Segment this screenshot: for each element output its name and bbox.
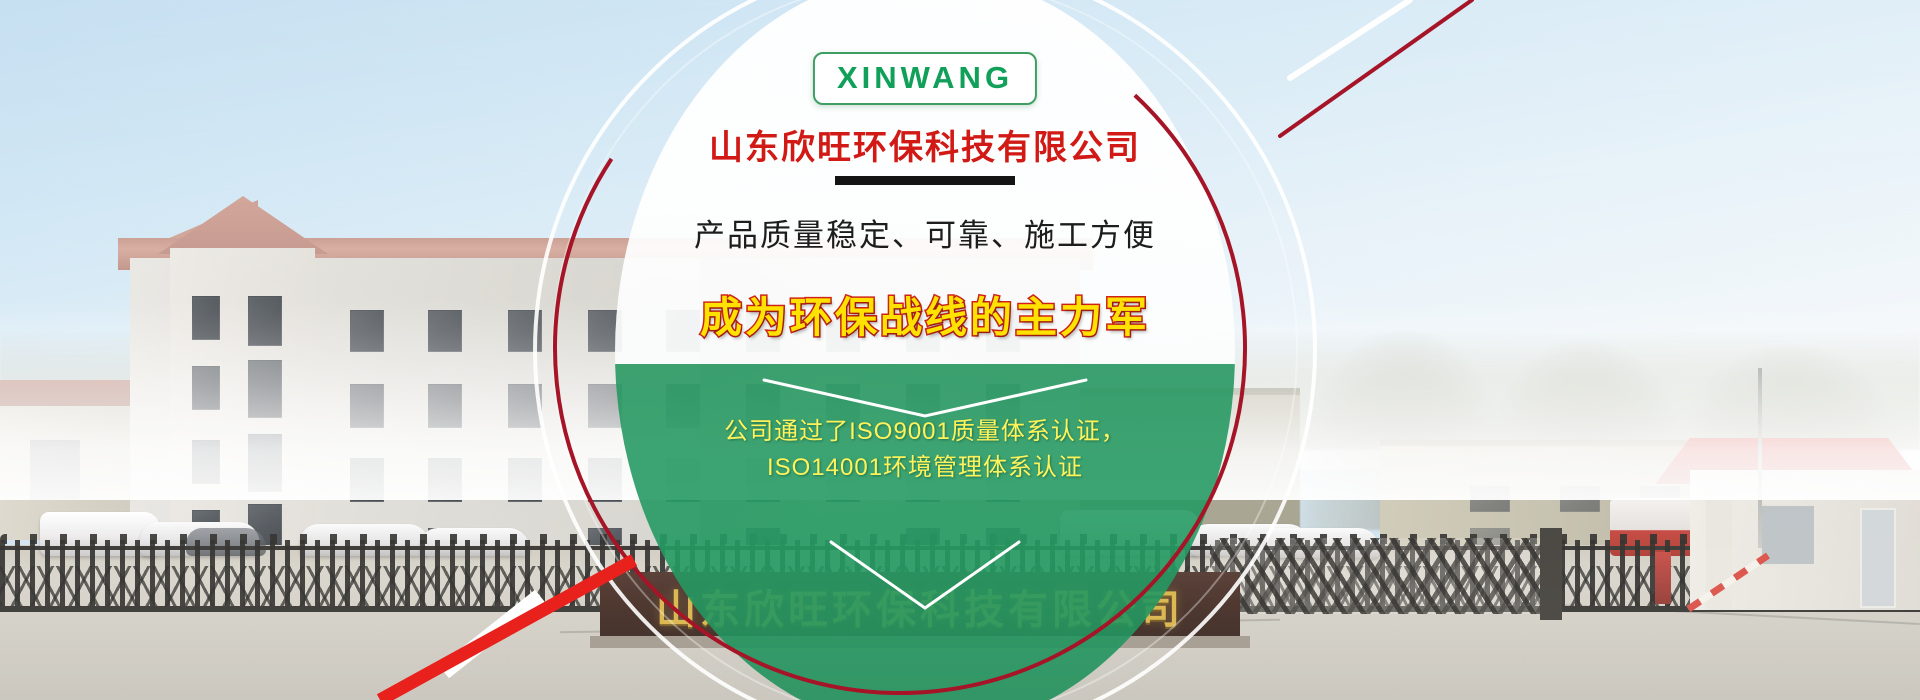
certification-text: 公司通过了ISO9001质量体系认证， ISO14001环境管理体系认证	[615, 414, 1235, 486]
brand-badge: XINWANG	[813, 52, 1037, 105]
hero-banner: 山东欣旺环保科技有限公司 XINWANG 山东欣旺环保科技有限公司 产品质量稳定…	[0, 0, 1920, 700]
tagline: 产品质量稳定、可靠、施工方便	[615, 210, 1235, 255]
title-divider	[835, 176, 1015, 185]
company-name: 山东欣旺环保科技有限公司	[615, 120, 1235, 169]
certification-line-1: 公司通过了ISO9001质量体系认证，	[615, 414, 1235, 450]
certification-line-2: ISO14001环境管理体系认证	[615, 450, 1235, 486]
center-oval-panel: XINWANG 山东欣旺环保科技有限公司 产品质量稳定、可靠、施工方便 成为环保…	[615, 0, 1235, 700]
slogan: 成为环保战线的主力军	[615, 284, 1235, 345]
v-mark-outline-icon	[825, 538, 1025, 617]
